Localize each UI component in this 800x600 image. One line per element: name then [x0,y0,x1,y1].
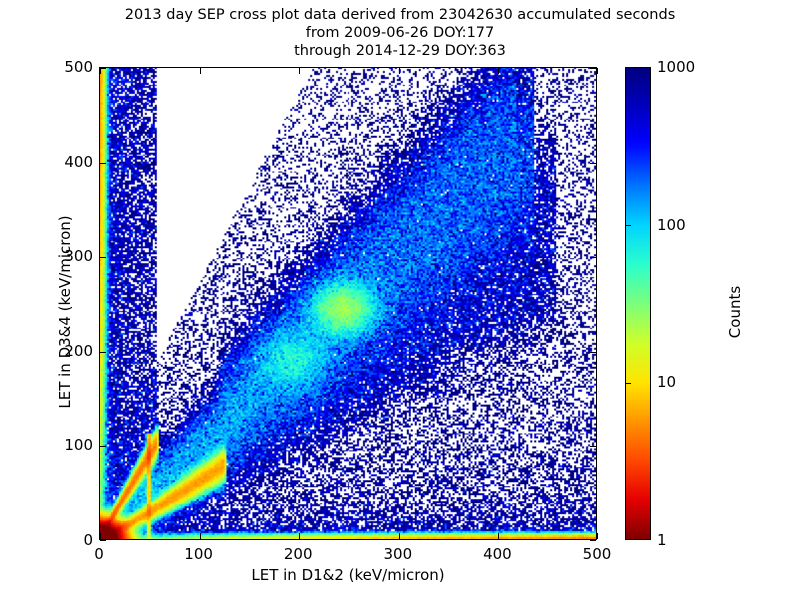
x-axis-tick [200,533,201,539]
colorbar-gradient [626,68,650,539]
y-axis-tick [590,163,596,164]
x-axis-tick-label: 100 [184,545,213,563]
x-axis-tick [498,533,499,539]
x-axis-tick [597,68,598,74]
y-axis-tick-label: 500 [64,58,93,76]
plot-title: 2013 day SEP cross plot data derived fro… [0,6,800,60]
y-axis-title: LET in D3&4 (keV/micron) [56,152,74,472]
x-axis-tick [200,68,201,74]
y-axis-tick [100,257,106,258]
x-axis-tick [299,68,300,74]
y-axis-tick [590,68,596,69]
y-axis-tick-label: 0 [83,531,93,549]
x-axis-tick-label: 300 [383,545,412,563]
colorbar-tick-label: 1 [657,531,667,549]
x-axis-tick-label: 200 [284,545,313,563]
x-axis-tick [498,68,499,74]
plot-title-line-2: from 2009-06-26 DOY:177 [0,24,800,42]
y-axis-tick [100,540,106,541]
colorbar-tick-label: 100 [657,216,686,234]
y-axis-tick [100,352,106,353]
y-axis-tick [100,163,106,164]
x-axis-tick [399,533,400,539]
density-heatmap [100,68,596,539]
y-axis-tick [100,446,106,447]
colorbar-tick-label: 10 [657,373,676,391]
colorbar-tick [626,225,631,226]
x-axis-tick [597,533,598,539]
x-axis-tick [399,68,400,74]
x-axis-title: LET in D1&2 (keV/micron) [99,566,597,584]
x-axis-tick-label: 0 [94,545,104,563]
y-axis-tick [590,446,596,447]
colorbar-tick [626,383,631,384]
y-axis-tick [590,257,596,258]
plot-title-line-1: 2013 day SEP cross plot data derived fro… [0,6,800,24]
plot-axes [99,67,597,540]
x-axis-tick-label: 500 [583,545,612,563]
y-axis-tick [590,352,596,353]
figure-canvas: 2013 day SEP cross plot data derived fro… [0,0,800,600]
x-axis-tick [299,533,300,539]
colorbar-tick-label: 1000 [657,58,695,76]
y-axis-tick [590,540,596,541]
x-axis-tick [100,533,101,539]
colorbar [625,67,651,540]
colorbar-title: Counts [726,197,744,427]
x-axis-tick-label: 400 [483,545,512,563]
density-plot-area [100,68,596,539]
y-axis-tick [100,68,106,69]
